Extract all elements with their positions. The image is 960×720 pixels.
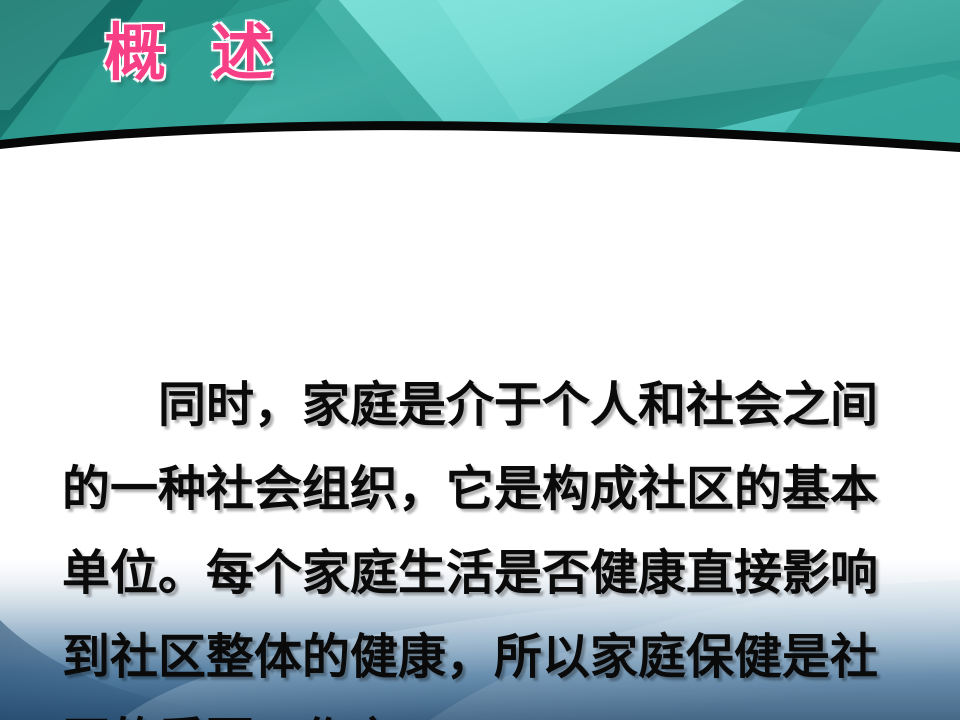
slide-canvas: 概 述 同时，家庭是介于个人和社会之间的一种社会组织，它是构成社区的基本单位。每… [0,0,960,720]
body-text-block: 同时，家庭是介于个人和社会之间的一种社会组织，它是构成社区的基本单位。每个家庭生… [62,196,908,720]
body-paragraph: 同时，家庭是介于个人和社会之间的一种社会组织，它是构成社区的基本单位。每个家庭生… [62,364,908,720]
page-title: 概 述 [104,18,287,89]
